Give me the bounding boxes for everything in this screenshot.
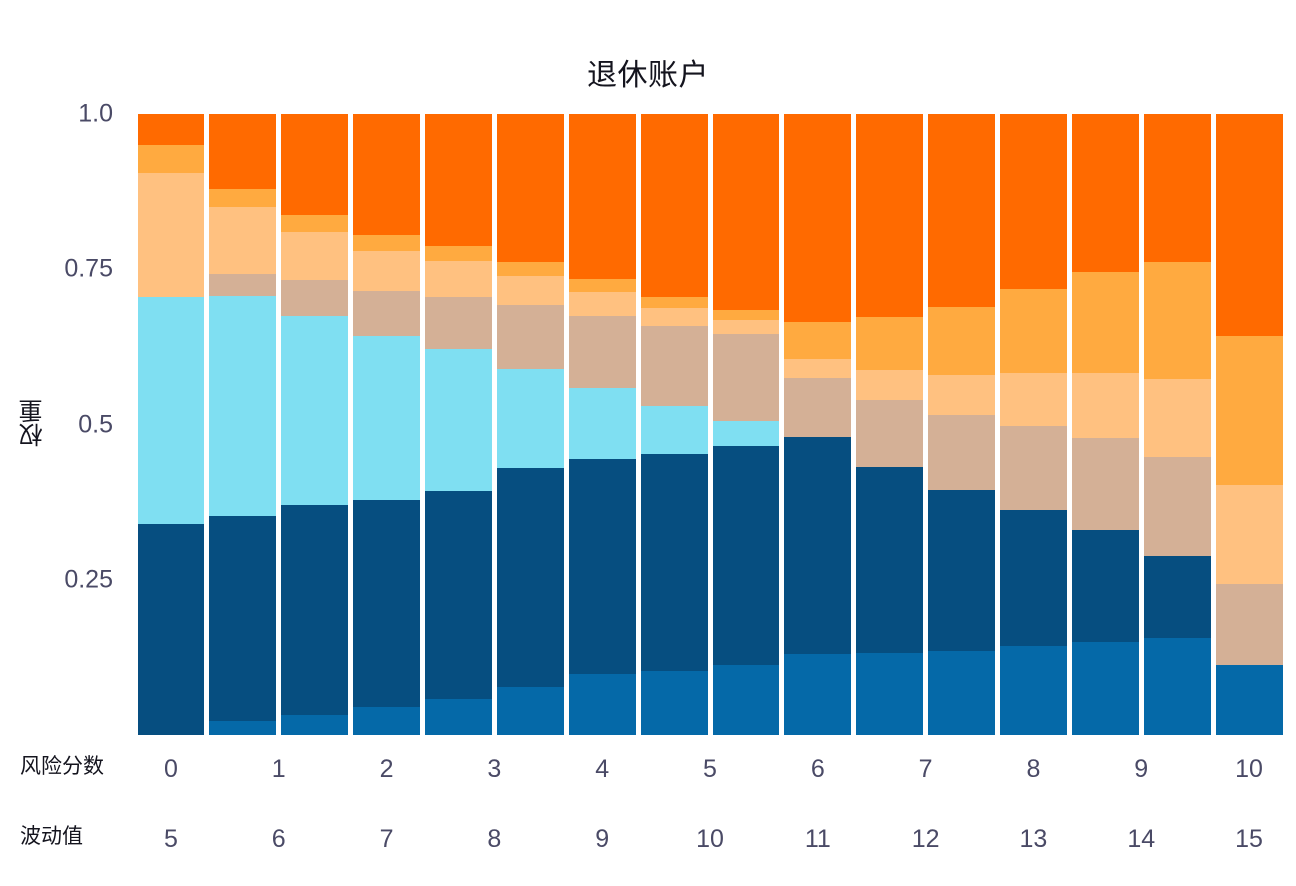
bar-segment-bright-orange[interactable] — [856, 114, 923, 317]
bar-segment-light-orange[interactable] — [1216, 485, 1283, 584]
bar-segment-medium-blue[interactable] — [425, 699, 492, 735]
bar-segment-dark-navy[interactable] — [425, 491, 492, 699]
bar-segment-light-orange[interactable] — [138, 173, 205, 297]
bar-segment-tan[interactable] — [784, 378, 851, 437]
bar-stack[interactable] — [928, 114, 995, 735]
bar-segment-light-orange[interactable] — [569, 292, 636, 317]
bar-segment-tan[interactable] — [641, 326, 708, 405]
bar-segment-bright-orange[interactable] — [209, 114, 276, 189]
bar-segment-tan[interactable] — [281, 280, 348, 316]
bar-stack[interactable] — [784, 114, 851, 735]
bar-segment-tan[interactable] — [713, 334, 780, 421]
bar-segment-bright-orange[interactable] — [1072, 114, 1139, 272]
x-axis-tick-label: 4 — [595, 755, 609, 783]
bar-segment-bright-orange[interactable] — [425, 114, 492, 246]
bar-segment-medium-blue[interactable] — [281, 715, 348, 735]
bar-stack[interactable] — [1216, 114, 1283, 735]
bar-segment-dark-navy[interactable] — [928, 490, 995, 651]
bar-segment-medium-orange[interactable] — [281, 215, 348, 232]
bar-segment-tan[interactable] — [928, 415, 995, 490]
x-axis-tick-label: 3 — [487, 755, 501, 783]
bar-segment-medium-orange[interactable] — [641, 297, 708, 308]
bar-segment-light-orange[interactable] — [497, 276, 564, 306]
bar-segment-bright-orange[interactable] — [713, 114, 780, 310]
bar-segment-medium-orange[interactable] — [1000, 289, 1067, 373]
x-axis-tick-label: 9 — [595, 825, 609, 853]
bar-segment-light-cyan[interactable] — [569, 388, 636, 459]
bar-segment-medium-blue[interactable] — [1072, 642, 1139, 735]
bar-segment-medium-orange[interactable] — [928, 307, 995, 375]
bar-segment-medium-orange[interactable] — [497, 262, 564, 276]
bar-segment-light-cyan[interactable] — [425, 349, 492, 491]
bar-segment-dark-navy[interactable] — [784, 437, 851, 654]
x-axis-tick-label: 5 — [164, 825, 178, 853]
bar-segment-medium-orange[interactable] — [784, 322, 851, 359]
bar-segment-light-cyan[interactable] — [641, 406, 708, 454]
bar-segment-medium-orange[interactable] — [1072, 272, 1139, 373]
bar-segment-light-orange[interactable] — [209, 207, 276, 274]
x-axis-row-title-volatility: 波动值 — [20, 825, 83, 849]
bar-segment-tan[interactable] — [1144, 457, 1211, 556]
x-axis: 风险分数 波动值 01234567891056789101112131415 — [0, 735, 1296, 886]
bar-segment-medium-blue[interactable] — [713, 665, 780, 735]
bar-segment-dark-navy[interactable] — [856, 467, 923, 653]
x-axis-tick-label: 15 — [1235, 825, 1263, 853]
bar-segment-light-cyan[interactable] — [281, 316, 348, 505]
x-axis-tick-label: 9 — [1134, 755, 1148, 783]
x-axis-tick-label: 13 — [1020, 825, 1048, 853]
bar-segment-bright-orange[interactable] — [784, 114, 851, 322]
x-axis-tick-label: 2 — [380, 755, 394, 783]
bar-stack[interactable] — [713, 114, 780, 735]
bar-segment-tan[interactable] — [1000, 426, 1067, 510]
x-axis-tick-label: 6 — [272, 825, 286, 853]
bar-segment-medium-orange[interactable] — [569, 279, 636, 291]
bar-segment-medium-blue[interactable] — [1144, 638, 1211, 735]
bar-stack[interactable] — [1000, 114, 1067, 735]
bar-segment-medium-blue[interactable] — [209, 721, 276, 735]
bar-segment-medium-orange[interactable] — [1144, 262, 1211, 379]
bar-segment-dark-navy[interactable] — [641, 454, 708, 671]
bar-segment-dark-navy[interactable] — [209, 516, 276, 721]
x-axis-tick-label: 1 — [272, 755, 286, 783]
bar-segment-light-orange[interactable] — [784, 359, 851, 378]
bar-segment-medium-blue[interactable] — [928, 651, 995, 735]
x-axis-tick-label: 7 — [919, 755, 933, 783]
x-axis-tick-label: 6 — [811, 755, 825, 783]
bar-segment-tan[interactable] — [353, 291, 420, 336]
bar-segment-light-cyan[interactable] — [497, 369, 564, 468]
bar-segment-dark-navy[interactable] — [497, 468, 564, 687]
bar-segment-light-orange[interactable] — [353, 251, 420, 291]
bar-stack[interactable] — [281, 114, 348, 735]
bar-stack[interactable] — [641, 114, 708, 735]
bar-segment-bright-orange[interactable] — [1000, 114, 1067, 289]
bar-segment-light-orange[interactable] — [928, 375, 995, 415]
bar-segment-medium-orange[interactable] — [856, 317, 923, 370]
x-axis-tick-label: 8 — [487, 825, 501, 853]
bar-segment-tan[interactable] — [209, 274, 276, 296]
y-axis-tick-label: 0.5 — [78, 410, 113, 439]
bar-segment-medium-blue[interactable] — [1000, 646, 1067, 735]
bar-segment-bright-orange[interactable] — [138, 114, 205, 145]
bar-stack[interactable] — [1072, 114, 1139, 735]
bar-segment-medium-blue[interactable] — [784, 654, 851, 735]
y-axis-tick-label: 1.0 — [78, 100, 113, 129]
bar-segment-medium-orange[interactable] — [353, 235, 420, 251]
bar-segment-bright-orange[interactable] — [1144, 114, 1211, 262]
bar-stack[interactable] — [209, 114, 276, 735]
bar-segment-bright-orange[interactable] — [353, 114, 420, 234]
x-axis-row-title-risk: 风险分数 — [20, 755, 104, 779]
y-axis-tick-label: 0.25 — [64, 565, 113, 594]
bar-segment-light-orange[interactable] — [713, 320, 780, 334]
bar-stack[interactable] — [497, 114, 564, 735]
bar-segment-medium-orange[interactable] — [138, 145, 205, 173]
bar-segment-light-orange[interactable] — [1144, 379, 1211, 457]
x-axis-tick-label: 8 — [1026, 755, 1040, 783]
x-axis-tick-label: 10 — [1235, 755, 1263, 783]
bar-segment-bright-orange[interactable] — [569, 114, 636, 279]
bar-segment-light-orange[interactable] — [425, 261, 492, 297]
bar-stack[interactable] — [856, 114, 923, 735]
bar-segment-tan[interactable] — [1072, 438, 1139, 530]
bar-segment-dark-navy[interactable] — [1072, 530, 1139, 642]
bar-segment-light-cyan[interactable] — [353, 336, 420, 501]
bar-segment-light-cyan[interactable] — [713, 421, 780, 446]
x-axis-tick-label: 7 — [380, 825, 394, 853]
bar-segment-tan[interactable] — [569, 316, 636, 387]
bar-segment-medium-blue[interactable] — [569, 674, 636, 735]
bar-stack[interactable] — [569, 114, 636, 735]
plot-area — [135, 114, 1285, 735]
bar-segment-bright-orange[interactable] — [641, 114, 708, 297]
chart-root: 退休账户 权重 0.250.50.751.0 风险分数 波动值 01234567… — [0, 0, 1296, 886]
bar-segment-bright-orange[interactable] — [497, 114, 564, 262]
bar-segment-dark-navy[interactable] — [353, 500, 420, 707]
bar-segment-dark-navy[interactable] — [713, 446, 780, 665]
x-axis-tick-label: 12 — [912, 825, 940, 853]
bar-segment-tan[interactable] — [497, 305, 564, 368]
bar-segment-medium-orange[interactable] — [209, 189, 276, 208]
bar-segment-dark-navy[interactable] — [1144, 556, 1211, 638]
bar-segment-medium-orange[interactable] — [713, 310, 780, 320]
bar-segment-medium-blue[interactable] — [497, 687, 564, 735]
bar-segment-light-orange[interactable] — [1000, 373, 1067, 426]
bar-stack[interactable] — [425, 114, 492, 735]
bar-segment-bright-orange[interactable] — [281, 114, 348, 215]
bar-segment-bright-orange[interactable] — [1216, 114, 1283, 336]
bar-segment-light-orange[interactable] — [641, 308, 708, 327]
bar-segment-light-cyan[interactable] — [209, 296, 276, 516]
bar-segment-tan[interactable] — [856, 400, 923, 467]
bar-segment-light-orange[interactable] — [1072, 373, 1139, 438]
bar-segment-bright-orange[interactable] — [928, 114, 995, 307]
bar-segment-medium-orange[interactable] — [1216, 336, 1283, 485]
bar-segment-medium-blue[interactable] — [856, 653, 923, 735]
bar-segment-light-orange[interactable] — [856, 370, 923, 400]
bar-stack[interactable] — [1144, 114, 1211, 735]
bar-segment-medium-blue[interactable] — [1216, 665, 1283, 735]
x-axis-tick-label: 14 — [1127, 825, 1155, 853]
x-axis-tick-label: 5 — [703, 755, 717, 783]
x-axis-tick-label: 0 — [164, 755, 178, 783]
bar-segment-medium-blue[interactable] — [353, 707, 420, 735]
bar-segment-dark-navy[interactable] — [1000, 510, 1067, 647]
bar-segment-light-cyan[interactable] — [138, 297, 205, 524]
x-axis-tick-label: 10 — [696, 825, 724, 853]
bar-segment-dark-navy[interactable] — [281, 505, 348, 714]
bar-segment-dark-navy[interactable] — [138, 524, 205, 735]
x-axis-tick-label: 11 — [805, 825, 831, 853]
bar-segment-light-orange[interactable] — [281, 232, 348, 280]
bar-segment-dark-navy[interactable] — [569, 459, 636, 674]
bar-segment-medium-blue[interactable] — [641, 671, 708, 735]
bar-stack[interactable] — [138, 114, 205, 735]
bar-stack[interactable] — [353, 114, 420, 735]
bar-segment-tan[interactable] — [1216, 584, 1283, 665]
bar-segment-medium-orange[interactable] — [425, 246, 492, 261]
page-title: 退休账户 — [0, 58, 1296, 94]
bar-segment-tan[interactable] — [425, 297, 492, 350]
y-axis-tick-label: 0.75 — [64, 255, 113, 284]
